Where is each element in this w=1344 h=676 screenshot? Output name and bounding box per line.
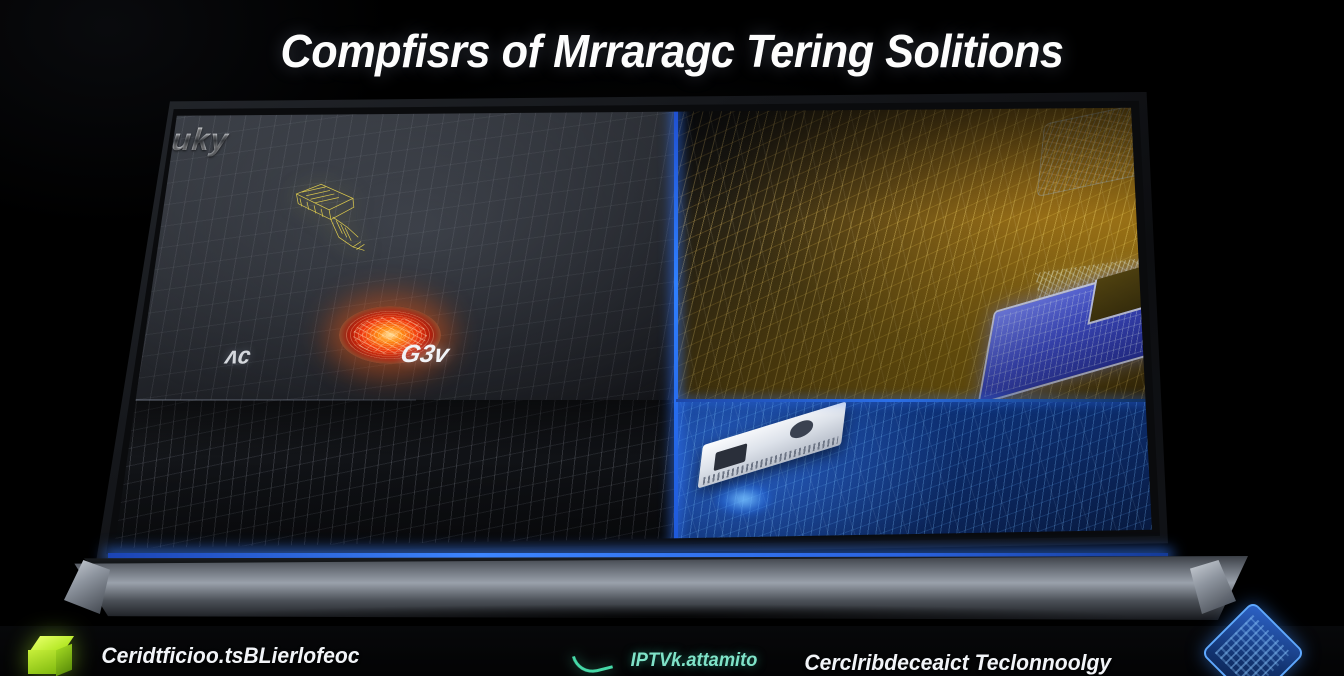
ssd-chip-2 [789, 418, 814, 441]
feature-item-technology[interactable]: Cerclribdeceaict Teclonnoolgy [798, 650, 1118, 676]
teal-swoosh-icon [572, 648, 612, 674]
feature-label-technology: Cerclribdeceaict Teclonnoolgy [804, 650, 1111, 676]
panel-dark-product: Guky [110, 106, 676, 400]
feature-label-certification: Ceridtficioo.tsBLierlofeoc [101, 643, 359, 669]
feature-label-iptv: IPTVk.attamito [631, 650, 758, 672]
white-ssd-module-icon [698, 401, 847, 488]
panel-divider-horizontal [676, 399, 1154, 402]
panel-divider-vertical [674, 106, 678, 552]
ssd-body [698, 401, 847, 488]
feature-item-diamond[interactable] [1204, 606, 1308, 676]
panel-divider-left [110, 399, 416, 401]
screen-quadrants: Guky [110, 106, 1154, 552]
panel-mark-left: ʌᴄ [223, 342, 253, 371]
cube-front-face [28, 650, 58, 674]
laptop-screen: Guky [110, 106, 1154, 552]
feature-item-iptv[interactable]: IPTVk.attamito [572, 648, 760, 674]
cube-side-face [56, 644, 72, 676]
laptop-device: Guky [0, 0, 1344, 626]
brand-logo: Guky [145, 122, 230, 158]
mesh-fade [110, 400, 676, 552]
panel-left-column: Guky [110, 106, 676, 552]
feature-item-certification[interactable]: Ceridtficioo.tsBLierlofeoc [26, 634, 365, 676]
blue-diamond-icon [1204, 606, 1308, 676]
wireframe-mesh-white [110, 400, 676, 552]
panel-blue-mesh [676, 400, 1154, 552]
panel-mark-right: G3v [398, 340, 451, 369]
ssd-blue-glow [705, 476, 783, 522]
screenshot-root: Compfisrs of Mrraragc Tering Solitions G… [0, 0, 1344, 676]
gold-wireframe-connector-icon [246, 171, 416, 259]
green-cube-icon [26, 634, 80, 676]
panel-amber-mesh [676, 106, 1154, 400]
panel-dark-mesh [110, 400, 676, 552]
bottom-feature-bar: Ceridtficioo.tsBLierlofeoc IPTVk.attamit… [0, 626, 1344, 676]
